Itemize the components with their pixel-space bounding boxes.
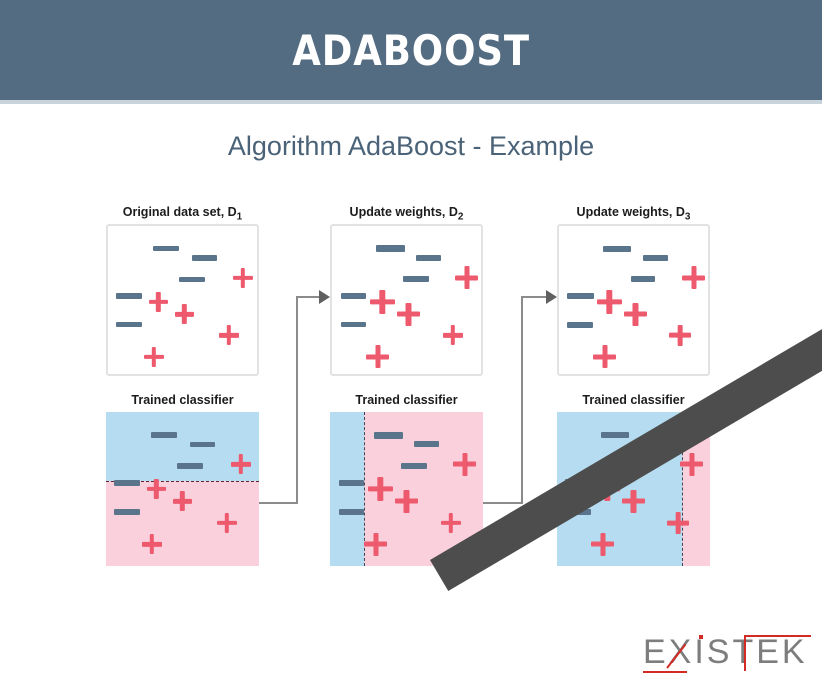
logo-accent-underline	[643, 671, 687, 673]
logo-accent-top-rule	[744, 635, 811, 637]
logo-accent-i-dot	[699, 635, 703, 639]
arrow-2-segment-horizontal-bottom	[483, 502, 521, 504]
adaboost-diagram: Original data set, D1Trained classifierU…	[0, 0, 822, 690]
logo-accent-t-stem	[744, 635, 746, 671]
arrow-2-arrowhead-icon	[546, 290, 557, 304]
arrow-2	[0, 0, 822, 690]
existek-logo: EXISTEK	[643, 633, 811, 677]
arrow-2-segment-horizontal-top	[521, 296, 548, 298]
arrow-2-segment-vertical	[521, 296, 523, 504]
